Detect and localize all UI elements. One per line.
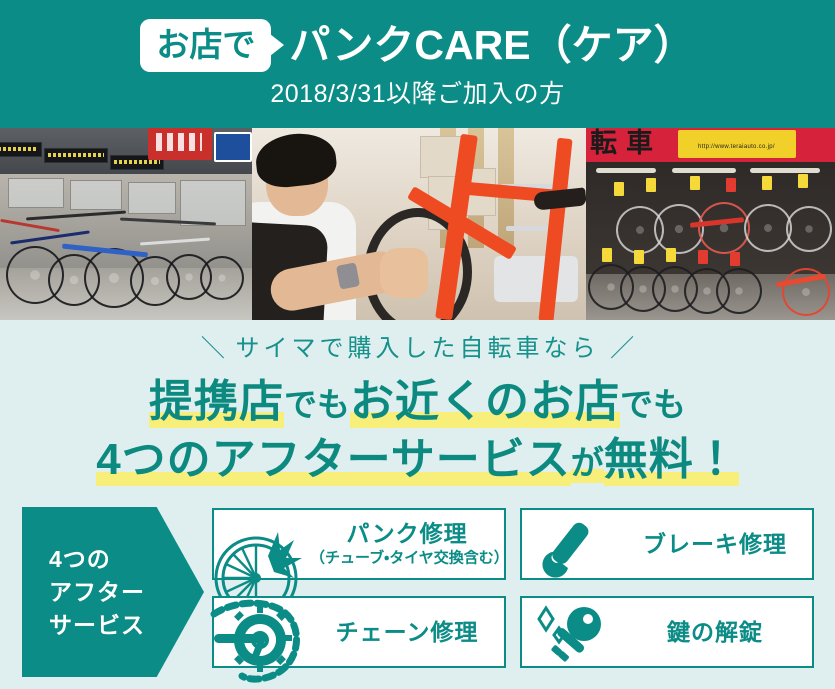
header-badge: お店で [140,19,271,72]
tagline-text: サイマで購入した自転車なら [236,335,600,362]
arrow-banner-line-3: サービス [49,609,204,642]
tagline-slash-right: ／ [610,335,634,362]
headline-line-1: 提携店でもお近くのお店でも [0,380,835,424]
promo-banner-page: お店で パンクCARE（ケア） 2018/3/31以降ご加入の方 [0,0,835,689]
service-card-label: チェーン修理 [310,619,504,645]
service-title: パンク修理 [310,521,504,547]
headline1-seg-1: でも [284,386,350,423]
service-title: チェーン修理 [310,619,504,645]
page-title: パンクCARE（ケア） [289,25,694,66]
tagline: ＼ サイマで購入した自転車なら ／ [0,337,835,361]
photo-mechanic-repair [252,128,586,320]
chainring-chain-icon [214,598,310,666]
headline2-seg-1: が [571,444,604,483]
middle-copy-section: ＼ サイマで購入した自転車なら ／ 提携店でもお近くのお店でも 4つのアフターサ… [0,320,835,495]
header-subtitle: 2018/3/31以降ご加入の方 [0,82,835,107]
headline1-seg-3: でも [620,386,686,423]
header-band: お店で パンクCARE（ケア） 2018/3/31以降ご加入の方 [0,0,835,128]
service-title: 鍵の解錠 [618,619,812,645]
bicycle-wheel-puncture-icon [214,510,310,578]
service-title: ブレーキ修理 [618,531,812,557]
wrench-icon [522,510,618,578]
arrow-banner-line-2: アフター [49,576,204,609]
service-card-brake-repair[interactable]: ブレーキ修理 [520,508,814,580]
headline-line-2: 4つのアフターサービスが無料！ [0,438,835,482]
service-subtitle: （チューブ・タイヤ交換含む） [310,550,504,567]
service-card-chain-repair[interactable]: チェーン修理 [212,596,506,668]
headline2-seg-0: 4つのアフターサービス [96,435,571,486]
service-card-label: パンク修理 （チューブ・タイヤ交換含む） [310,521,504,568]
photo-shop-red-banner: 転 車 http://www.teraiauto.co.jp/ [586,128,835,320]
service-card-label: ブレーキ修理 [618,531,812,557]
service-card-puncture-repair[interactable]: パンク修理 （チューブ・タイヤ交換含む） [212,508,506,580]
photo-storefront-bikes [0,128,252,320]
headline1-seg-0: 提携店 [149,377,284,428]
header-title-row: お店で パンクCARE（ケア） [0,14,835,76]
service-card-key-unlock[interactable]: 鍵の解錠 [520,596,814,668]
arrow-banner-line-1: 4つの [49,543,204,576]
photo-strip: 転 車 http://www.teraiauto.co.jp/ [0,128,835,320]
headline1-seg-2: お近くのお店 [350,377,620,428]
bottom-strip [0,683,835,689]
key-sparkle-icon [522,598,618,666]
service-card-label: 鍵の解錠 [618,619,812,645]
services-section: 4つの アフター サービス [0,495,835,689]
services-arrow-banner: 4つの アフター サービス [22,507,204,677]
headline2-seg-2: 無料！ [604,435,739,486]
tagline-slash-left: ＼ [201,335,225,362]
